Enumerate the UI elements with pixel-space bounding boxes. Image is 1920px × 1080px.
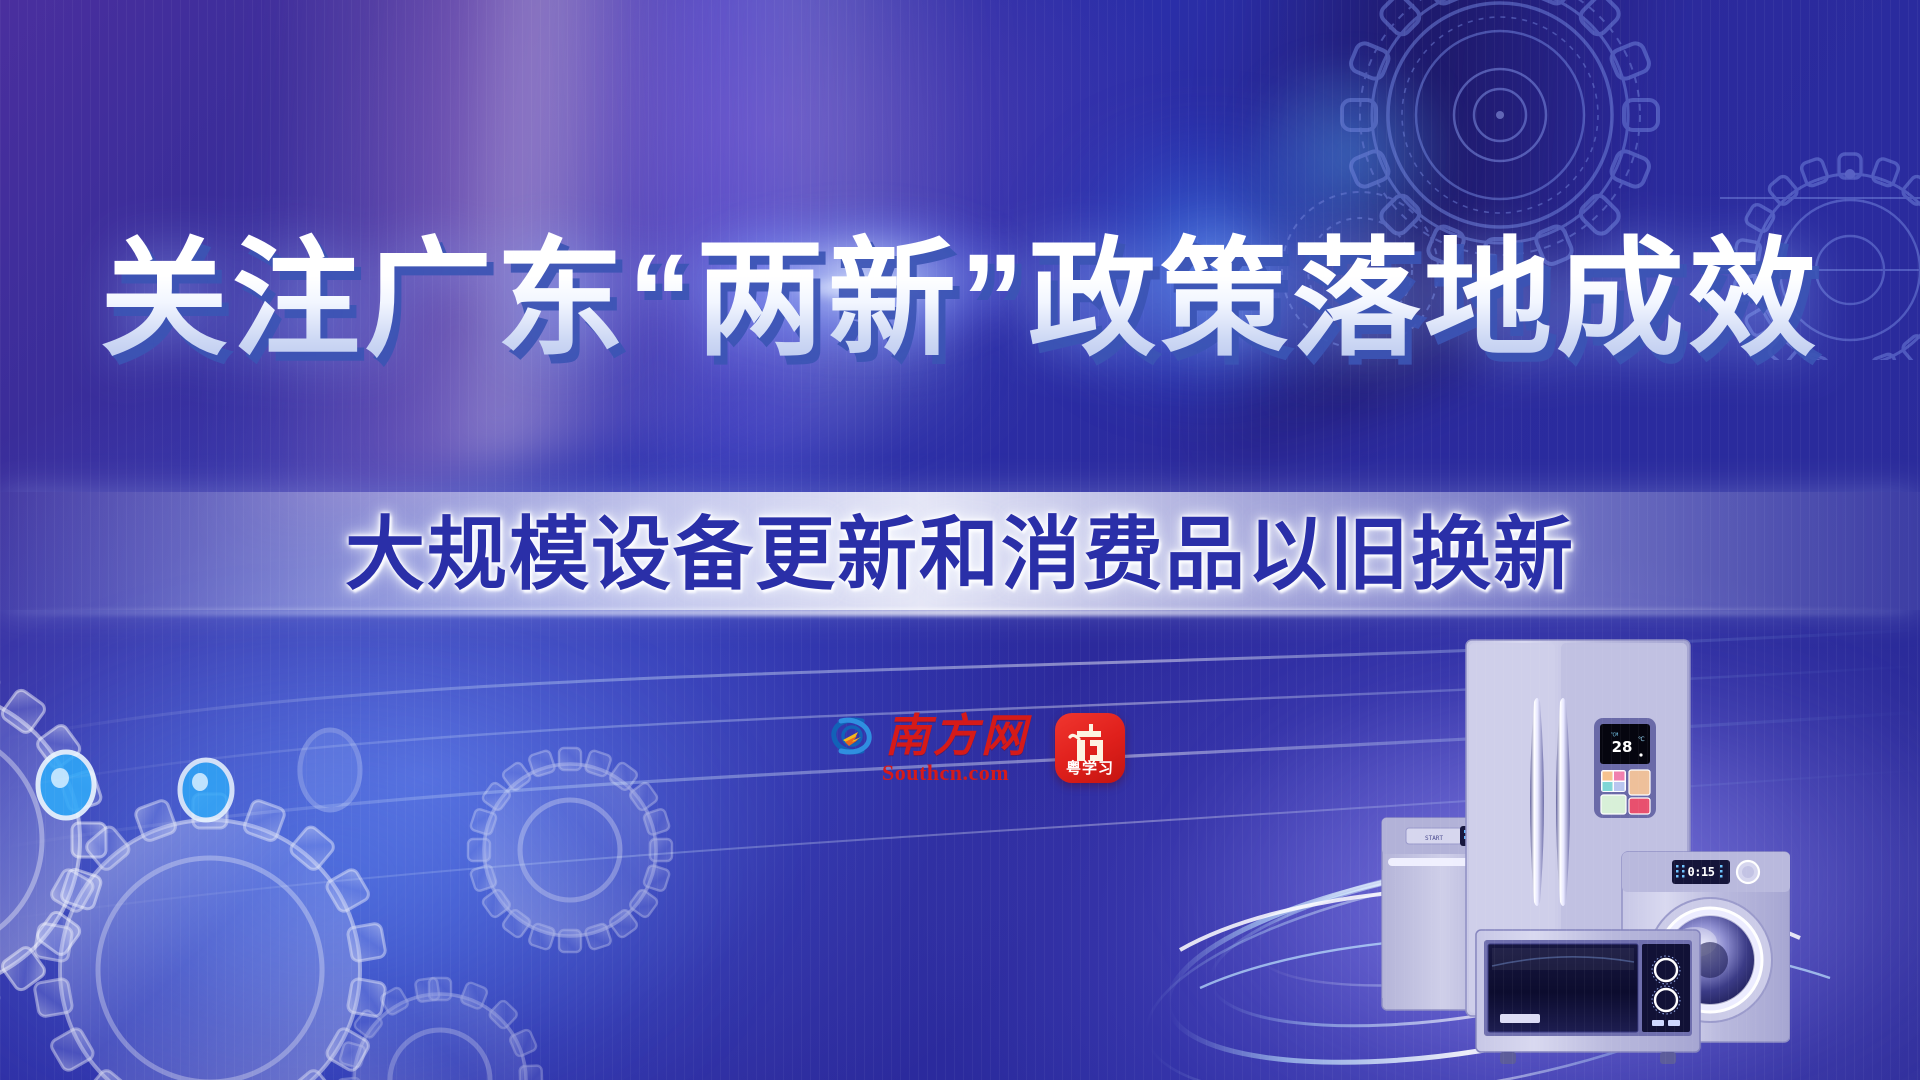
southcn-cn-name: 南方网 <box>885 714 1029 759</box>
page-title: 关注广东“两新”政策落地成效 <box>100 228 1820 371</box>
appliance-group: START START ℃ <box>1370 630 1790 1080</box>
svg-text:0:15: 0:15 <box>1688 865 1715 879</box>
banner-root: START START ℃ <box>0 0 1920 1080</box>
dark-diagonal-band <box>905 0 1920 509</box>
refrigerator-smart-panel: ℃M 28 ℃ <box>1594 718 1656 818</box>
southcn-s-emblem-icon <box>828 712 876 760</box>
svg-text:℃: ℃ <box>1638 736 1645 743</box>
blue-glow-lower-left <box>0 600 780 1080</box>
svg-text:START: START <box>1425 835 1443 842</box>
title-block: 关注广东“两新”政策落地成效 <box>0 228 1920 371</box>
microwave-oven-icon <box>1476 930 1700 1064</box>
subtitle-band <box>0 492 1920 610</box>
logo-row: 南方网 Southcn.com 粤学习 <box>828 712 1125 784</box>
translucent-gears-icon <box>0 610 770 1080</box>
blue-glow-upper <box>1000 110 1420 410</box>
blue-glow-upper-small <box>1220 60 1480 250</box>
southcn-logo[interactable]: 南方网 Southcn.com <box>828 712 1029 784</box>
yue-learning-label: 粤学习 <box>1066 757 1114 778</box>
center-glare-glow <box>690 205 1030 355</box>
yue-learning-icon[interactable]: 粤学习 <box>1055 713 1125 783</box>
center-glare-spark <box>790 275 940 301</box>
svg-text:28: 28 <box>1612 738 1633 756</box>
southcn-en-name: Southcn.com <box>882 762 1009 784</box>
blueprint-gears-icon <box>1200 0 1920 360</box>
